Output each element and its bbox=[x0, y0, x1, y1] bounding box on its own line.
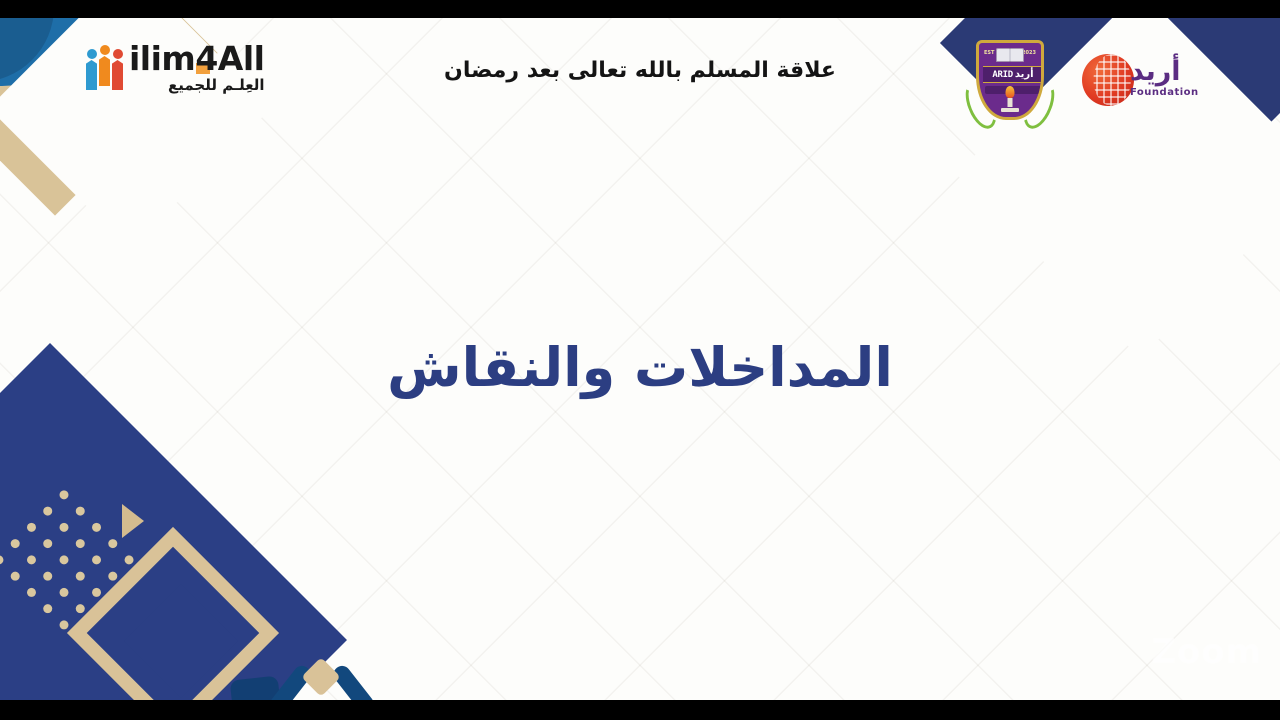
grid-dot bbox=[58, 586, 71, 599]
letterbox-top bbox=[0, 0, 1280, 18]
presentation-slide: ilim4All العِلـم للجميع علاقة المسلم بال… bbox=[0, 18, 1280, 700]
slide-main-title: المداخلات والنقاش bbox=[0, 336, 1280, 399]
arid-foundation-name-en: Foundation bbox=[1130, 87, 1199, 98]
slide-stage: ilim4All العِلـم للجميع علاقة المسلم بال… bbox=[0, 0, 1280, 720]
header-title: علاقة المسلم بالله تعالى بعد رمضان bbox=[0, 58, 1280, 83]
grid-dot bbox=[25, 586, 38, 599]
grid-dot bbox=[41, 570, 54, 583]
grid-dot bbox=[58, 619, 71, 632]
grid-dot bbox=[74, 537, 87, 550]
grid-dot bbox=[58, 521, 71, 534]
grid-dot bbox=[9, 570, 22, 583]
grid-dot bbox=[90, 586, 103, 599]
torch-base bbox=[1001, 108, 1019, 112]
grid-dot bbox=[74, 570, 87, 583]
grid-dot bbox=[74, 602, 87, 615]
letterbox-bottom bbox=[0, 700, 1280, 720]
grid-dot bbox=[0, 554, 5, 567]
torch-icon bbox=[999, 86, 1021, 112]
shield-est-label: EST bbox=[984, 50, 994, 56]
zoom-watermark: Zoom bbox=[1151, 632, 1262, 672]
slide-header: ilim4All العِلـم للجميع علاقة المسلم بال… bbox=[0, 18, 1280, 130]
grid-dot bbox=[58, 554, 71, 567]
grid-dot bbox=[90, 554, 103, 567]
shield-est-year: 2023 bbox=[1022, 50, 1036, 56]
grid-dot bbox=[41, 537, 54, 550]
grid-dot bbox=[25, 554, 38, 567]
torch-stem bbox=[1008, 98, 1013, 107]
arid-shield-logo: EST 2023 ARID أريد bbox=[968, 40, 1052, 132]
grid-dot bbox=[106, 570, 119, 583]
figure-arm-right bbox=[330, 662, 377, 700]
grid-dot bbox=[41, 602, 54, 615]
flame-icon bbox=[1006, 86, 1015, 98]
tan-triangle-icon bbox=[122, 504, 144, 538]
